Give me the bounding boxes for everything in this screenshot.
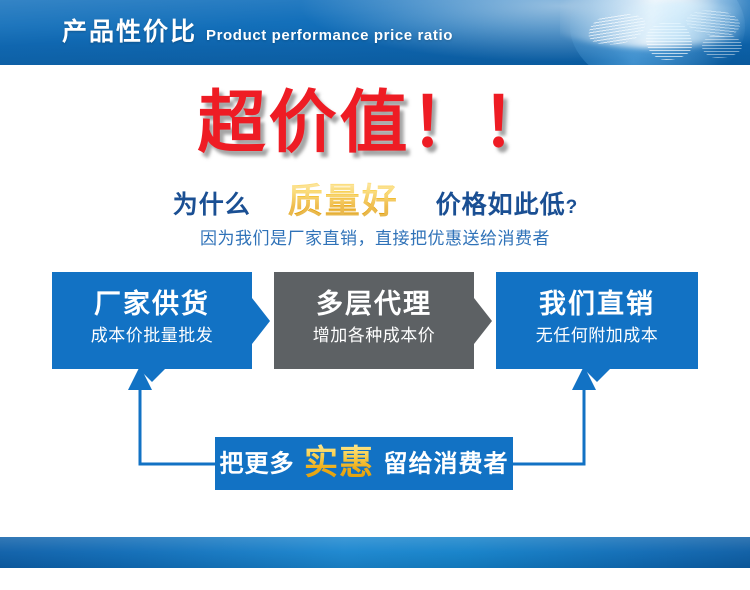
header-title-english: Product performance price ratio bbox=[206, 26, 453, 45]
flow-diagram: 厂家供货 成本价批量批发 多层代理 增加各种成本价 我们直销 无任何附加成本 bbox=[52, 272, 698, 369]
triangle-down-icon bbox=[139, 369, 165, 382]
subtitle-question-mark: ? bbox=[566, 197, 578, 218]
banner-part-more: 把更多 bbox=[220, 450, 295, 477]
flow-box-title: 我们直销 bbox=[496, 287, 698, 321]
flow-box-subtitle: 成本价批量批发 bbox=[52, 324, 252, 348]
description-text: 因为我们是厂家直销，直接把优惠送给消费者 bbox=[0, 226, 750, 252]
banner-highlight-benefit: 实惠 bbox=[304, 444, 374, 482]
flow-box-multi-agent: 多层代理 增加各种成本价 bbox=[274, 272, 474, 369]
bottom-banner: 把更多 实惠 留给消费者 bbox=[215, 437, 513, 490]
subtitle-part-why: 为什么 bbox=[173, 191, 251, 219]
page-header: 产品性价比 Product performance price ratio bbox=[0, 0, 750, 65]
subtitle-highlight-quality: 质量好 bbox=[288, 182, 399, 221]
flow-box-title: 多层代理 bbox=[274, 287, 474, 321]
subtitle-part-price: 价格如此低 bbox=[436, 191, 566, 219]
flow-box-factory-supply: 厂家供货 成本价批量批发 bbox=[52, 272, 252, 369]
header-title-chinese: 产品性价比 bbox=[62, 17, 197, 48]
main-headline: 超价值！！ bbox=[0, 82, 750, 164]
chevron-right-icon bbox=[474, 298, 492, 344]
globe-icon bbox=[560, 0, 750, 65]
banner-part-consumers: 留给消费者 bbox=[383, 450, 508, 477]
flow-box-direct-sale: 我们直销 无任何附加成本 bbox=[496, 272, 698, 369]
triangle-down-icon bbox=[584, 369, 610, 382]
footer-bar bbox=[0, 537, 750, 568]
flow-box-subtitle: 无任何附加成本 bbox=[496, 324, 698, 348]
subtitle-row: 为什么 质量好 价格如此低? bbox=[0, 182, 750, 229]
flow-box-subtitle: 增加各种成本价 bbox=[274, 324, 474, 348]
flow-box-title: 厂家供货 bbox=[52, 287, 252, 321]
chevron-right-icon bbox=[252, 298, 270, 344]
footer-bar-gloss bbox=[0, 537, 750, 568]
